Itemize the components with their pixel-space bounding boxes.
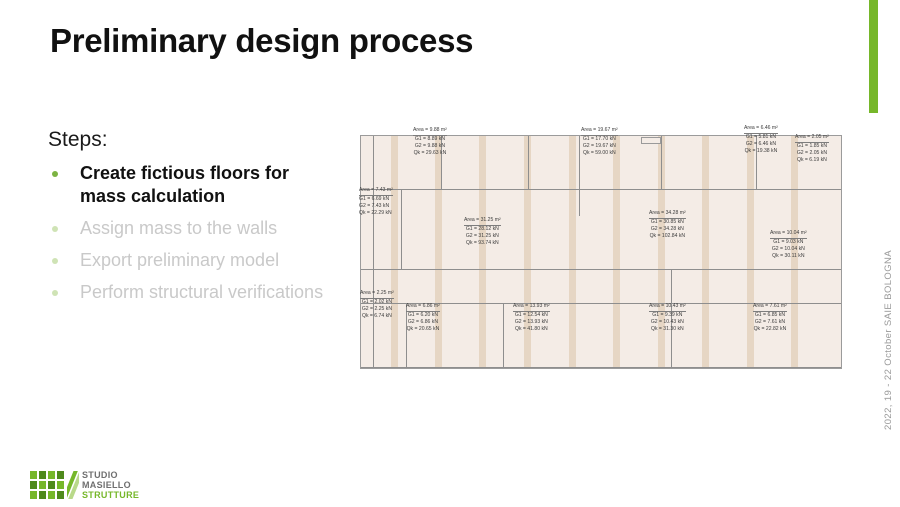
area-value: Area = 10.04 m²	[770, 230, 807, 239]
wall-line	[361, 269, 841, 270]
area-label: Area = 19.67 m² G1 = 17.70 kN G2 = 19.67…	[581, 127, 618, 157]
area-label: Area = 10.04 m² G1 = 9.03 kN G2 = 10.04 …	[770, 230, 807, 260]
area-value: Area = 10.43 m²	[649, 303, 686, 312]
g1-value: G1 = 6.85 kN	[753, 312, 787, 319]
area-label: Area = 7.43 m² G1 = 6.69 kN G2 = 7.43 kN…	[359, 187, 393, 217]
g2-value: G2 = 9.88 kN	[413, 143, 447, 150]
bullet-dot-icon	[52, 171, 58, 177]
qk-value: Qk = 30.11 kN	[770, 253, 807, 260]
qk-value: Qk = 19.38 kN	[744, 148, 778, 155]
g2-value: G2 = 2.05 kN	[795, 150, 829, 157]
g1-value: G1 = 12.54 kN	[513, 312, 550, 319]
wall-band	[702, 136, 709, 368]
list-item-label: Assign mass to the walls	[80, 217, 277, 240]
g1-value: G1 = 6.69 kN	[359, 196, 393, 203]
wall-line	[361, 189, 841, 190]
wall-line	[528, 136, 529, 189]
logo-cell	[48, 481, 55, 489]
area-value: Area = 9.88 m²	[413, 127, 447, 136]
logo-cell	[57, 491, 64, 499]
g2-value: G2 = 13.93 kN	[513, 319, 550, 326]
g2-value: G2 = 10.43 kN	[649, 319, 686, 326]
slide-canvas: 2022, 19 - 22 October SAIE BOLOGNA Preli…	[0, 0, 900, 507]
g2-value: G2 = 7.43 kN	[359, 203, 393, 210]
g1-value: G1 = 6.20 kN	[406, 312, 440, 319]
g2-value: G2 = 31.25 kN	[464, 233, 501, 240]
area-label: Area = 34.28 m² G1 = 30.85 kN G2 = 34.28…	[649, 210, 686, 240]
logo-cell	[48, 491, 55, 499]
area-value: Area = 6.86 m²	[406, 303, 440, 312]
area-value: Area = 31.25 m²	[464, 217, 501, 226]
area-label: Area = 2.05 m² G1 = 1.85 kN G2 = 2.05 kN…	[795, 134, 829, 164]
logo-cell	[39, 491, 46, 499]
wall-line	[503, 303, 504, 367]
steps-list: Create fictious floors for mass calculat…	[48, 162, 338, 313]
logo-cell	[57, 471, 64, 479]
wall-line	[661, 136, 662, 189]
footer-vertical-text: 2022, 19 - 22 October SAIE BOLOGNA	[883, 250, 894, 430]
g1-value: G1 = 30.85 kN	[649, 219, 686, 226]
logo-cell	[48, 471, 55, 479]
qk-value: Qk = 22.29 kN	[359, 210, 393, 217]
list-item-label: Export preliminary model	[80, 249, 279, 272]
area-label: Area = 6.46 m² G1 = 5.81 kN G2 = 6.46 kN…	[744, 125, 778, 155]
g1-value: G1 = 17.70 kN	[581, 136, 618, 143]
qk-value: Qk = 41.80 kN	[513, 326, 550, 333]
list-item[interactable]: Assign mass to the walls	[48, 217, 338, 240]
floor-plan-diagram: Area = 9.88 m² G1 = 8.89 kN G2 = 9.88 kN…	[360, 135, 842, 369]
footer-vertical-label: 2022, 19 - 22 October SAIE BOLOGNA	[876, 250, 900, 460]
area-value: Area = 34.28 m²	[649, 210, 686, 219]
wall-line	[401, 189, 402, 269]
g1-value: G1 = 8.89 kN	[413, 136, 447, 143]
g2-value: G2 = 2.25 kN	[360, 306, 394, 313]
logo-cell	[39, 481, 46, 489]
page-title: Preliminary design process	[50, 22, 473, 60]
logo-line-3: STRUTTURE	[82, 490, 139, 500]
logo-grid-icon	[30, 471, 64, 499]
wall-band	[569, 136, 576, 368]
area-label: Area = 7.61 m² G1 = 6.85 kN G2 = 7.61 kN…	[753, 303, 787, 333]
list-item[interactable]: Export preliminary model	[48, 249, 338, 272]
area-label: Area = 13.93 m² G1 = 12.54 kN G2 = 13.93…	[513, 303, 550, 333]
g2-value: G2 = 19.67 kN	[581, 143, 618, 150]
wall-line	[361, 367, 841, 368]
logo-line-1: STUDIO	[82, 470, 139, 480]
g1-value: G1 = 5.81 kN	[744, 134, 778, 141]
wall-band	[613, 136, 620, 368]
logo-cell	[57, 481, 64, 489]
area-value: Area = 2.25 m²	[360, 290, 394, 299]
area-value: Area = 13.93 m²	[513, 303, 550, 312]
area-label: Area = 9.88 m² G1 = 8.89 kN G2 = 9.88 kN…	[413, 127, 447, 157]
studio-masiello-logo: STUDIO MASIELLO STRUTTURE	[30, 470, 139, 500]
logo-cell	[39, 471, 46, 479]
qk-value: Qk = 22.82 kN	[753, 326, 787, 333]
accent-bar	[869, 0, 878, 113]
area-label: Area = 10.43 m² G1 = 9.39 kN G2 = 10.43 …	[649, 303, 686, 333]
area-value: Area = 19.67 m²	[581, 127, 618, 136]
logo-slash-icon	[67, 471, 79, 499]
g1-value: G1 = 9.39 kN	[649, 312, 686, 319]
qk-value: Qk = 102.84 kN	[649, 233, 686, 240]
area-value: Area = 2.05 m²	[795, 134, 829, 143]
area-value: Area = 7.61 m²	[753, 303, 787, 312]
logo-cell	[30, 471, 37, 479]
g1-value: G1 = 9.03 kN	[770, 239, 807, 246]
wall-band	[479, 136, 486, 368]
g2-value: G2 = 7.61 kN	[753, 319, 787, 326]
bullet-dot-icon	[52, 226, 58, 232]
wall-band	[391, 136, 398, 368]
steps-header: Steps:	[48, 128, 108, 152]
bullet-dot-icon	[52, 258, 58, 264]
bullet-dot-icon	[52, 290, 58, 296]
g1-value: G1 = 2.02 kN	[360, 299, 394, 306]
qk-value: Qk = 93.74 kN	[464, 240, 501, 247]
plan-opening	[641, 137, 661, 144]
qk-value: Qk = 59.00 kN	[581, 150, 618, 157]
g2-value: G2 = 6.86 kN	[406, 319, 440, 326]
qk-value: Qk = 29.63 kN	[413, 150, 447, 157]
qk-value: Qk = 6.19 kN	[795, 157, 829, 164]
list-item[interactable]: Perform structural verifications	[48, 281, 338, 304]
g2-value: G2 = 6.46 kN	[744, 141, 778, 148]
logo-wordmark: STUDIO MASIELLO STRUTTURE	[82, 470, 139, 500]
area-label: Area = 31.25 m² G1 = 28.12 kN G2 = 31.25…	[464, 217, 501, 247]
logo-cell	[30, 491, 37, 499]
list-item-label: Perform structural verifications	[80, 281, 323, 304]
area-value: Area = 7.43 m²	[359, 187, 393, 196]
qk-value: Qk = 31.30 kN	[649, 326, 686, 333]
wall-line	[373, 136, 374, 368]
area-label: Area = 2.25 m² G1 = 2.02 kN G2 = 2.25 kN…	[360, 290, 394, 320]
wall-line	[579, 136, 580, 216]
area-value: Area = 6.46 m²	[744, 125, 778, 134]
g2-value: G2 = 34.28 kN	[649, 226, 686, 233]
logo-cell	[30, 481, 37, 489]
qk-value: Qk = 20.65 kN	[406, 326, 440, 333]
qk-value: Qk = 6.74 kN	[360, 313, 394, 320]
g1-value: G1 = 1.85 kN	[795, 143, 829, 150]
area-label: Area = 6.86 m² G1 = 6.20 kN G2 = 6.86 kN…	[406, 303, 440, 333]
g1-value: G1 = 28.12 kN	[464, 226, 501, 233]
g2-value: G2 = 10.04 kN	[770, 246, 807, 253]
list-item[interactable]: Create fictious floors for mass calculat…	[48, 162, 338, 208]
list-item-label: Create fictious floors for mass calculat…	[80, 162, 338, 208]
logo-line-2: MASIELLO	[82, 480, 139, 490]
